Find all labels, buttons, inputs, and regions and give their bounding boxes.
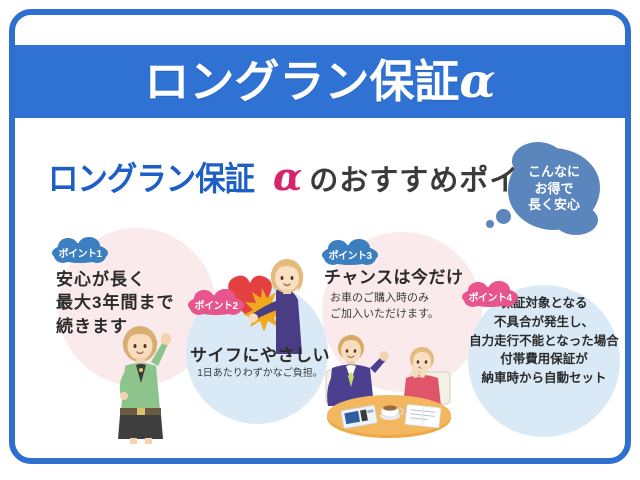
point-2-subtext: 1日あたりわずかなご負担。 xyxy=(186,367,334,382)
bubble-line-1: こんなに xyxy=(528,165,580,180)
banner-title-alpha: α xyxy=(459,54,495,109)
point-4-headline: 保証対象となる 不具合が発生し、 自力走行不能となった場合 付帯費用保証が 納車… xyxy=(468,294,620,388)
subtitle-brand: ロングラン保証 xyxy=(48,152,254,200)
point-2-badge: ポイント2 xyxy=(188,290,244,315)
bubble-line-3: 長く安心 xyxy=(528,198,580,213)
point-2-badge-label: ポイント2 xyxy=(188,290,244,315)
point-3-badge: ポイント3 xyxy=(322,240,378,265)
bubble-tail-small xyxy=(486,220,494,228)
banner-title: ロングラン保証α xyxy=(144,58,495,105)
bubble-text: こんなに お得で 長く安心 xyxy=(508,148,600,230)
point-3-badge-label: ポイント3 xyxy=(322,240,378,265)
point-3-subtext: お車のご購入時のみ ご加入いただけます。 xyxy=(330,291,439,323)
header-banner: ロングラン保証α xyxy=(15,45,625,118)
couple-at-table-illustration xyxy=(318,332,460,438)
bubble-line-2: お得で xyxy=(534,182,573,197)
point-1-badge-label: ポイント1 xyxy=(52,238,108,263)
point-4-badge: ポイント4 xyxy=(462,282,518,307)
point-3-headline: チャンスは今だけ xyxy=(324,266,464,289)
point-2-headline: サイフにやさしい xyxy=(186,344,334,367)
point-1-headline: 安心が長く 最大3年間まで 続きます xyxy=(56,268,174,338)
point-1-badge: ポイント1 xyxy=(52,238,108,263)
banner-title-main: ロングラン保証 xyxy=(144,56,459,107)
speech-bubble: こんなに お得で 長く安心 xyxy=(508,148,600,230)
woman-green-cardigan-illustration xyxy=(106,322,184,444)
subtitle-brand-alpha: α xyxy=(273,154,302,199)
subtitle-heading: ロングラン保証 α のおすすめポイント xyxy=(48,152,579,200)
promo-poster: ロングラン保証α ロングラン保証 α のおすすめポイント こんなに お得で 長く… xyxy=(0,0,640,480)
point-4-badge-label: ポイント4 xyxy=(462,282,518,307)
